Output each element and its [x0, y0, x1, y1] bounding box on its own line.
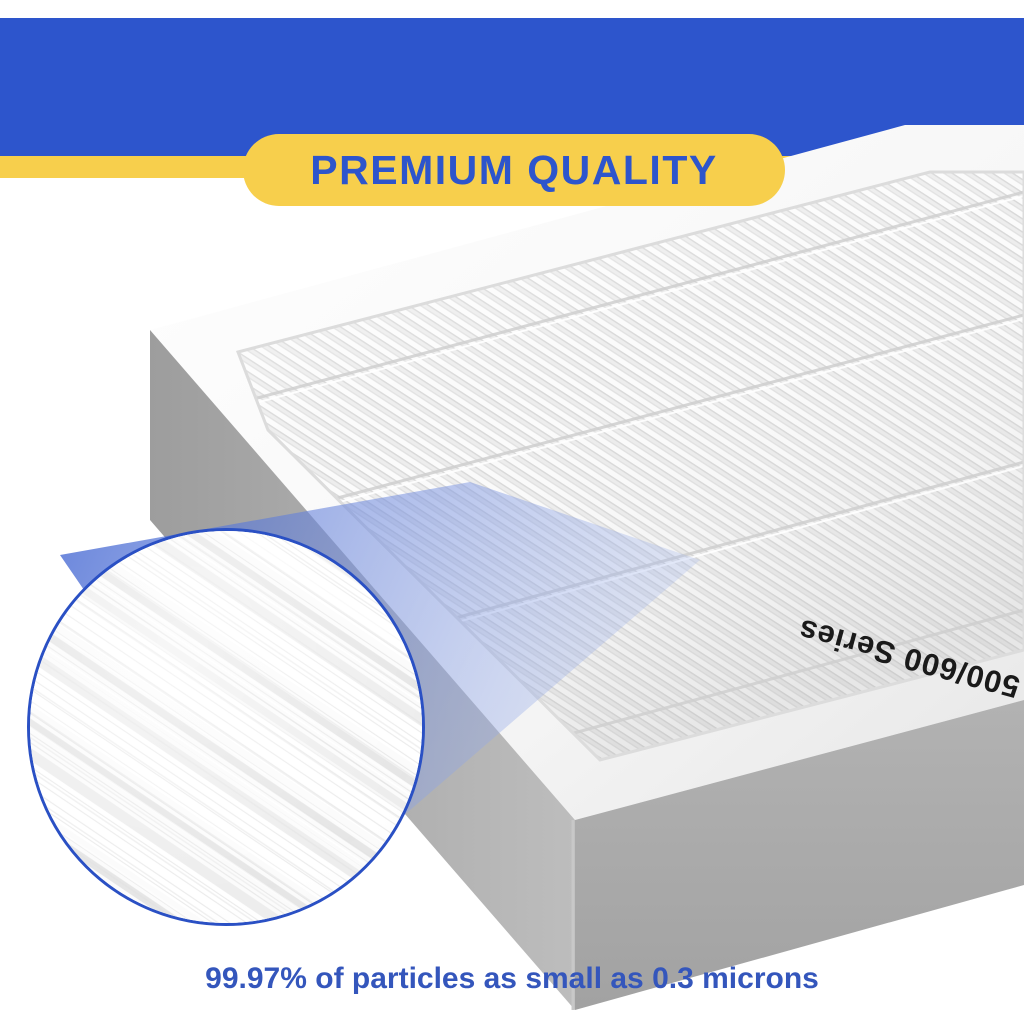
premium-quality-badge: PREMIUM QUALITY — [243, 134, 785, 206]
magnifier-circle — [27, 528, 425, 926]
fiber-texture — [27, 528, 425, 926]
premium-quality-badge-label: PREMIUM QUALITY — [310, 147, 717, 194]
efficiency-caption: 99.97% of particles as small as 0.3 micr… — [0, 962, 1024, 996]
product-marketing-image: 500/600 Series — [0, 0, 1024, 1024]
frame-model-label: 500/600 Series — [794, 611, 1023, 705]
